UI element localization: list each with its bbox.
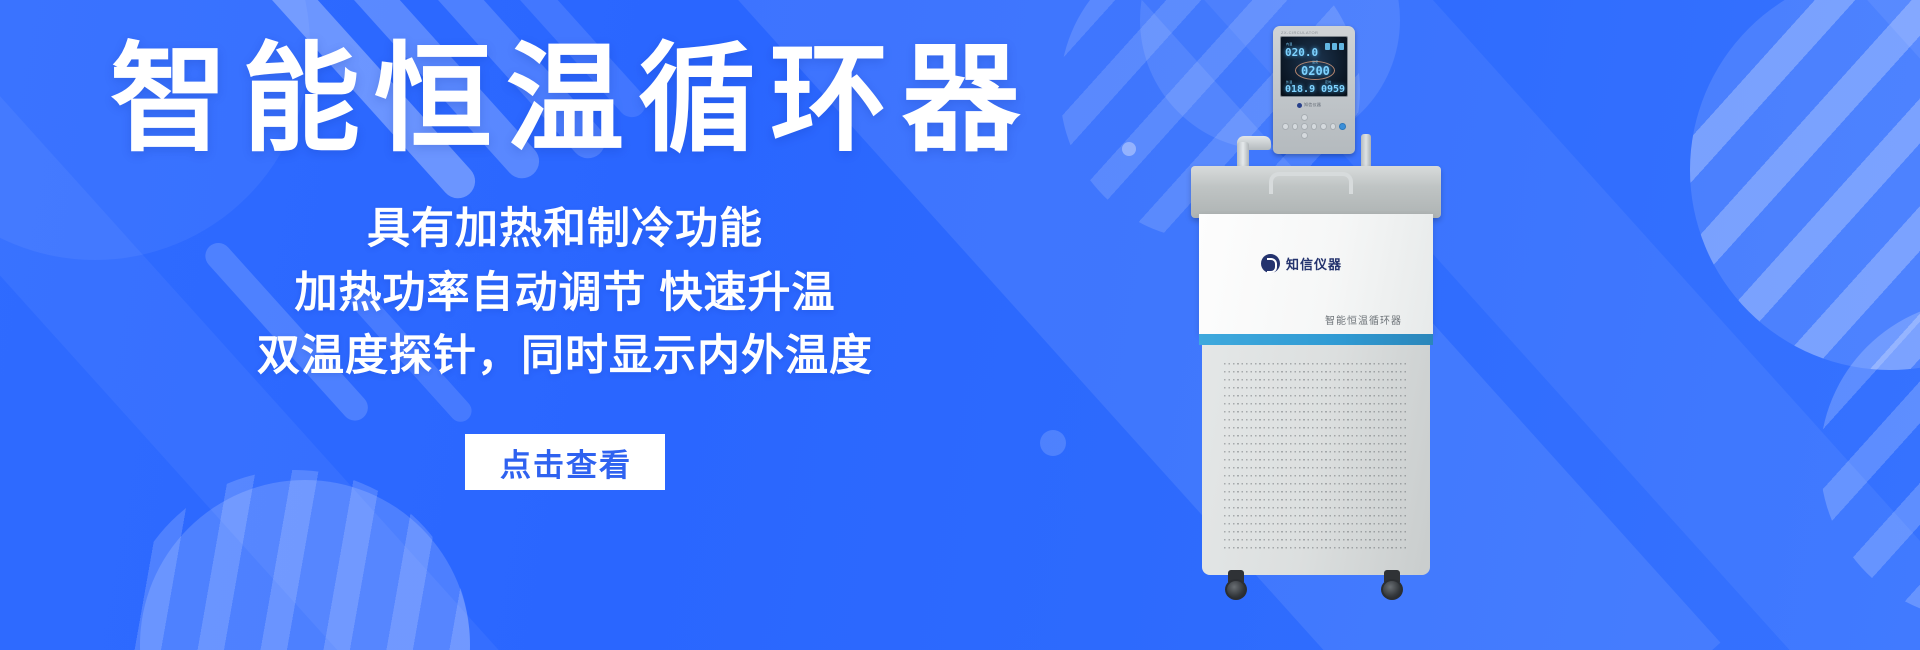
heat-icon — [1332, 43, 1337, 50]
page-title: 智能恒温循环器 — [0, 34, 1130, 166]
subtitle-group: 具有加热和制冷功能 加热功率自动调节 快速升温 双温度探针，同时显示内外温度 — [0, 198, 1130, 389]
arrow-right-key[interactable] — [1301, 123, 1308, 130]
lcd-bottom-right-value: 0959 — [1321, 84, 1345, 95]
brand-mark-icon — [1261, 254, 1280, 273]
function-key-2[interactable] — [1320, 123, 1327, 130]
lcd-display: 内温 020.0 设定 0200 外温 018.9 定时 0959 — [1280, 36, 1348, 97]
hatch-pattern — [1820, 300, 1920, 620]
controller-head: ZX-CIRCULATOR 内温 020.0 设定 0200 外温 018.9 … — [1273, 26, 1355, 154]
keypad — [1282, 112, 1346, 139]
banner-content: 智能恒温循环器 具有加热和制冷功能 加热功率自动调节 快速升温 双温度探针，同时… — [0, 0, 1130, 650]
lcd-status-icons — [1325, 43, 1344, 50]
subtitle-line-1: 具有加热和制冷功能 — [0, 198, 1130, 262]
lcd-top-left-value: 020.0 — [1285, 46, 1318, 59]
power-key[interactable] — [1339, 123, 1346, 130]
brand-logo: 知信仪器 — [1261, 254, 1342, 273]
cabinet-lower — [1202, 345, 1430, 575]
controller-brand-chip: 知信仪器 — [1297, 102, 1321, 108]
arrow-up-key[interactable] — [1301, 114, 1308, 121]
product-image: ZX-CIRCULATOR 内温 020.0 设定 0200 外温 018.9 … — [1185, 18, 1485, 638]
fan-icon — [1325, 43, 1330, 50]
function-key-3[interactable] — [1330, 123, 1337, 130]
arrow-left-key[interactable] — [1282, 123, 1289, 130]
brand-logo-icon — [1297, 103, 1302, 108]
accent-stripe — [1199, 334, 1433, 345]
keypad-row-up — [1282, 114, 1346, 121]
cta-container: 点击查看 — [0, 434, 1130, 490]
brand-name: 知信仪器 — [1286, 254, 1342, 273]
lid-handle — [1269, 172, 1353, 194]
tank-lid — [1191, 166, 1441, 218]
enter-key[interactable] — [1292, 123, 1299, 130]
view-details-button[interactable]: 点击查看 — [465, 434, 665, 490]
subtitle-line-2: 加热功率自动调节 快速升温 — [0, 262, 1130, 326]
lcd-center-value: 0200 — [1301, 64, 1330, 78]
return-pipe — [1361, 134, 1371, 170]
keypad-row-main — [1282, 123, 1346, 130]
caster-wheel — [1225, 579, 1247, 600]
subtitle-line-3: 双温度探针，同时显示内外温度 — [0, 325, 1130, 389]
caster-wheel-left — [1225, 570, 1247, 600]
caster-wheel — [1381, 579, 1403, 600]
promo-banner: 智能恒温循环器 具有加热和制冷功能 加热功率自动调节 快速升温 双温度探针，同时… — [0, 0, 1920, 650]
decorative-striped-circle-far-right — [1820, 300, 1920, 620]
battery-icon — [1339, 43, 1344, 50]
product-model-label: 智能恒温循环器 — [1325, 312, 1402, 327]
arrow-down-key[interactable] — [1301, 132, 1308, 139]
controller-brand-text: 知信仪器 — [1304, 102, 1321, 108]
cabinet-upper: 知信仪器 智能恒温循环器 — [1199, 214, 1433, 334]
lcd-bottom-left-value: 018.9 — [1285, 84, 1315, 95]
keypad-row-down — [1282, 132, 1346, 139]
function-key-1[interactable] — [1311, 123, 1318, 130]
ventilation-grille — [1224, 363, 1408, 553]
controller-model-text: ZX-CIRCULATOR — [1281, 30, 1318, 35]
caster-wheel-right — [1381, 570, 1403, 600]
